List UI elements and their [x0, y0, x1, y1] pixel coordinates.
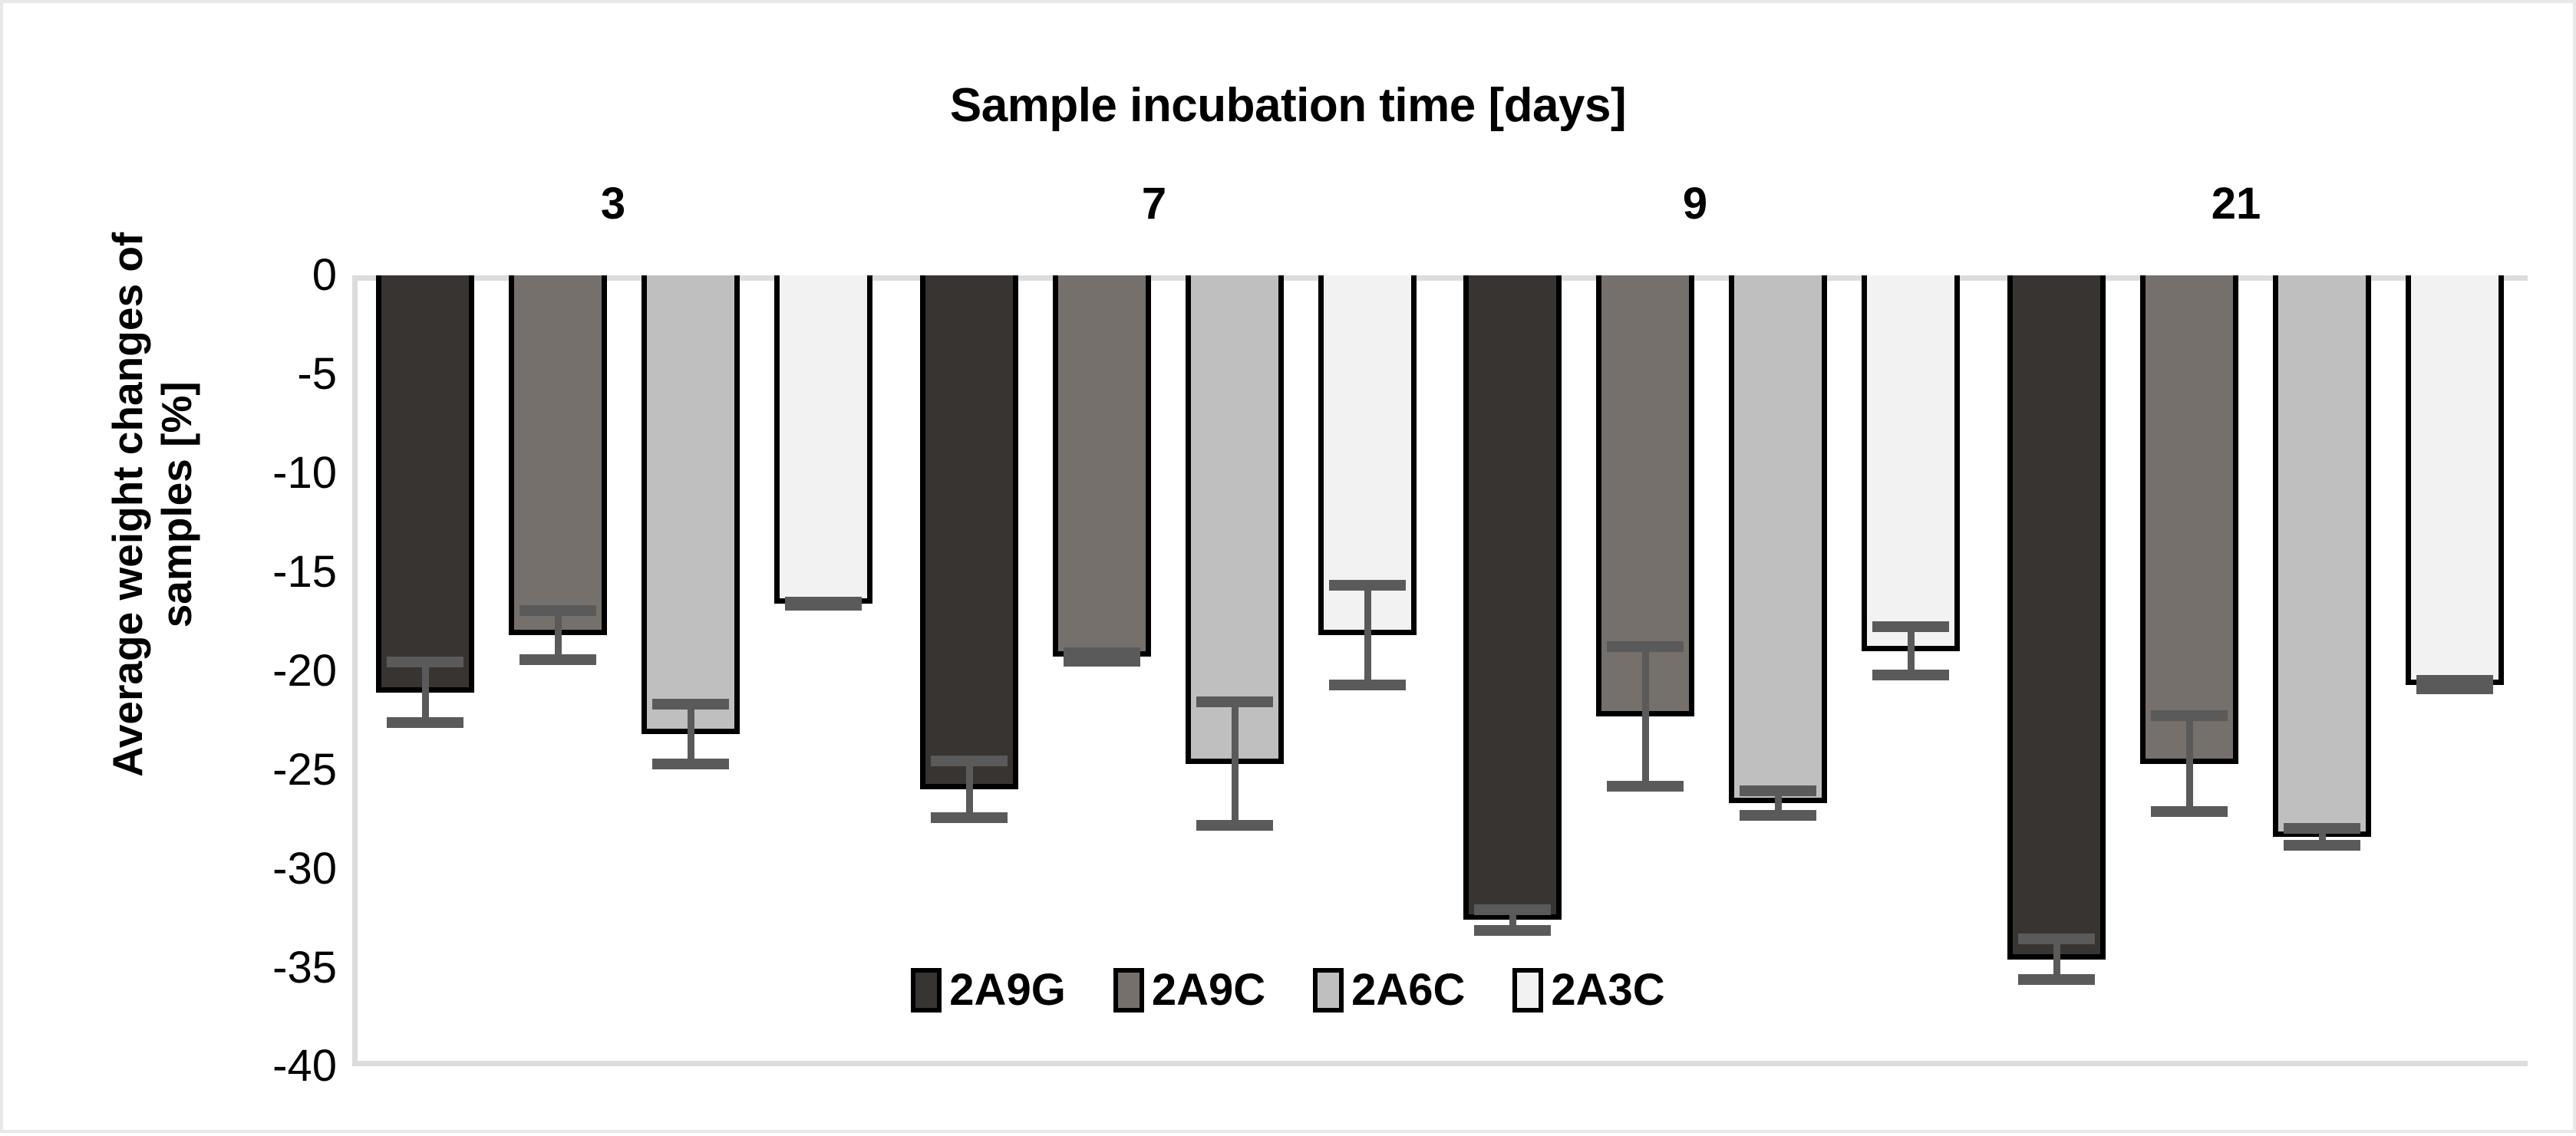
error-bar-cap-bottom	[1196, 820, 1273, 831]
error-bar-cap-bottom	[652, 759, 729, 769]
chart-legend: 2A9G2A9C2A6C2A3C	[3, 968, 2573, 1013]
error-bar-cap-top	[2151, 710, 2228, 721]
error-bar-cap-bottom	[931, 812, 1008, 823]
bar	[2406, 275, 2504, 685]
legend-item-2a3c[interactable]: 2A3C	[1512, 968, 1664, 1013]
error-bar-cap-bottom	[2284, 840, 2360, 851]
bar	[642, 275, 740, 734]
legend-item-2a9g[interactable]: 2A9G	[911, 968, 1066, 1013]
error-bar-cap-top	[1740, 785, 1816, 796]
legend-item-2a6c[interactable]: 2A6C	[1313, 968, 1465, 1013]
error-bar-stem	[1364, 580, 1371, 690]
legend-label: 2A6C	[1351, 968, 1465, 1013]
error-bar-cap-bottom	[1474, 925, 1551, 936]
error-bar-cap-top	[519, 605, 596, 616]
bar	[1053, 275, 1151, 657]
error-bar-cap-bottom	[785, 600, 862, 611]
legend-swatch-icon	[1313, 968, 1344, 1013]
error-bar-cap-bottom	[387, 717, 463, 728]
error-bar-cap-top	[1474, 904, 1551, 915]
error-bar-cap-top	[1196, 696, 1273, 707]
bar	[2007, 275, 2106, 960]
bar	[509, 275, 607, 635]
y-axis-title-line2: samples [%]	[153, 381, 200, 627]
bar	[920, 275, 1018, 789]
error-bar-cap-bottom	[1740, 810, 1816, 821]
error-bar-cap-top	[2018, 933, 2095, 944]
legend-label: 2A3C	[1551, 968, 1664, 1013]
y-axis-title-line1: Average weight changes of	[104, 232, 151, 777]
error-bar-cap-bottom	[1329, 680, 1406, 690]
bar	[1862, 275, 1960, 651]
bar	[774, 275, 872, 604]
legend-label: 2A9G	[949, 968, 1066, 1013]
error-bar-cap-top	[931, 756, 1008, 766]
error-bar-cap-top	[1607, 641, 1684, 652]
error-bar-cap-bottom	[1872, 670, 1949, 680]
bar	[1729, 275, 1827, 803]
legend-item-2a9c[interactable]: 2A9C	[1113, 968, 1265, 1013]
error-bar-stem	[2186, 710, 2193, 817]
y-tick-label: -30	[137, 847, 337, 891]
x-category-label-9: 9	[1683, 178, 1707, 229]
y-axis-title: Average weight changes of samples [%]	[104, 198, 202, 812]
bar	[1186, 275, 1284, 764]
y-tick-label: -40	[137, 1044, 337, 1088]
bar	[2273, 275, 2371, 837]
bar	[2140, 275, 2238, 764]
error-bar-cap-top	[387, 657, 463, 667]
x-category-label-7: 7	[1142, 178, 1166, 229]
error-bar-cap-bottom	[519, 654, 596, 665]
legend-swatch-icon	[1113, 968, 1144, 1013]
bar	[376, 275, 474, 693]
legend-swatch-icon	[911, 968, 942, 1013]
error-bar-cap-top	[1872, 621, 1949, 632]
error-bar-cap-bottom	[1607, 781, 1684, 792]
x-category-label-21: 21	[2212, 178, 2261, 229]
bars-layer	[352, 275, 2528, 1066]
error-bar-cap-top	[652, 699, 729, 710]
legend-label: 2A9C	[1152, 968, 1265, 1013]
error-bar-cap-top	[2284, 823, 2360, 834]
error-bar-cap-bottom	[2416, 683, 2493, 694]
x-category-label-3: 3	[601, 178, 625, 229]
error-bar-cap-top	[1329, 580, 1406, 591]
bar-group	[1440, 275, 1984, 1066]
bar-group	[896, 275, 1440, 1066]
bar-group	[1984, 275, 2528, 1066]
error-bar-cap-bottom	[2151, 806, 2228, 817]
bar-group	[352, 275, 896, 1066]
error-bar-cap-bottom	[1064, 656, 1140, 667]
error-bar-stem	[1642, 641, 1649, 792]
chart-figure: Sample incubation time [days] Average we…	[0, 0, 2576, 1133]
error-bar-stem	[1232, 696, 1239, 831]
legend-swatch-icon	[1512, 968, 1543, 1013]
chart-title: Sample incubation time [days]	[3, 78, 2573, 133]
bar	[1463, 275, 1562, 920]
